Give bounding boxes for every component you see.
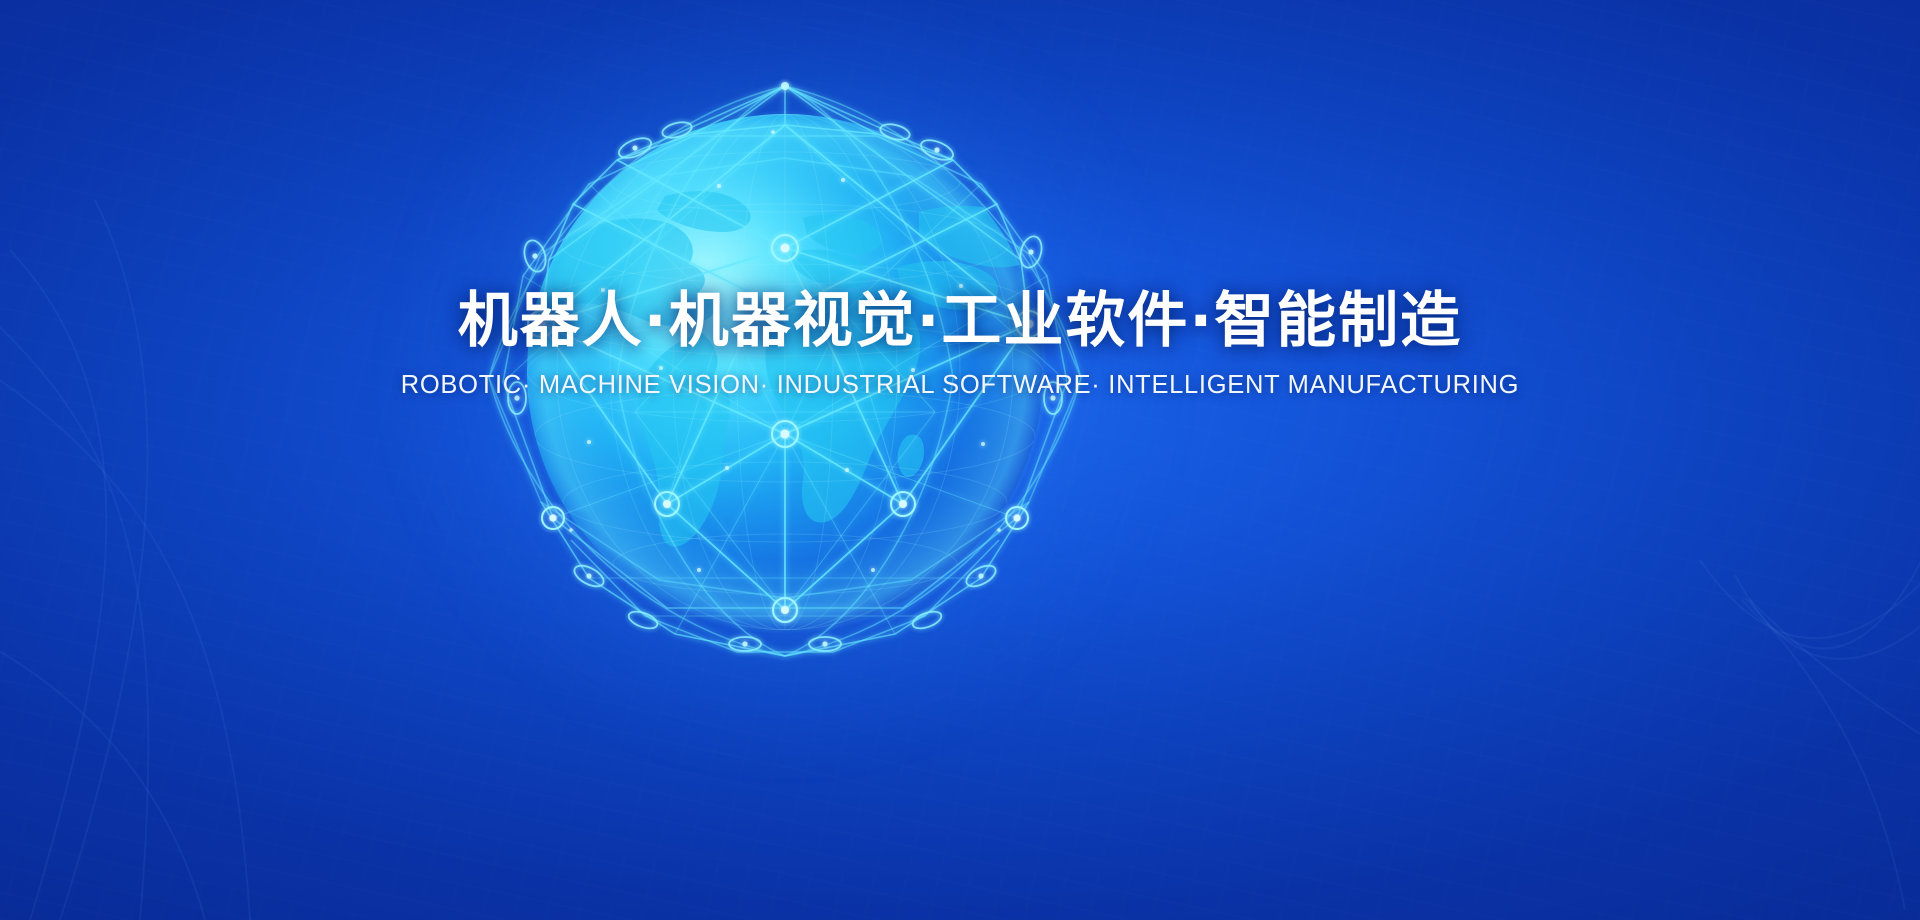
- globe-svg: [315, 0, 1255, 842]
- banner-stage: 机器人·机器视觉·工业软件·智能制造 ROBOTIC· MACHINE VISI…: [0, 0, 1920, 920]
- globe-graphic: [785, 372, 786, 373]
